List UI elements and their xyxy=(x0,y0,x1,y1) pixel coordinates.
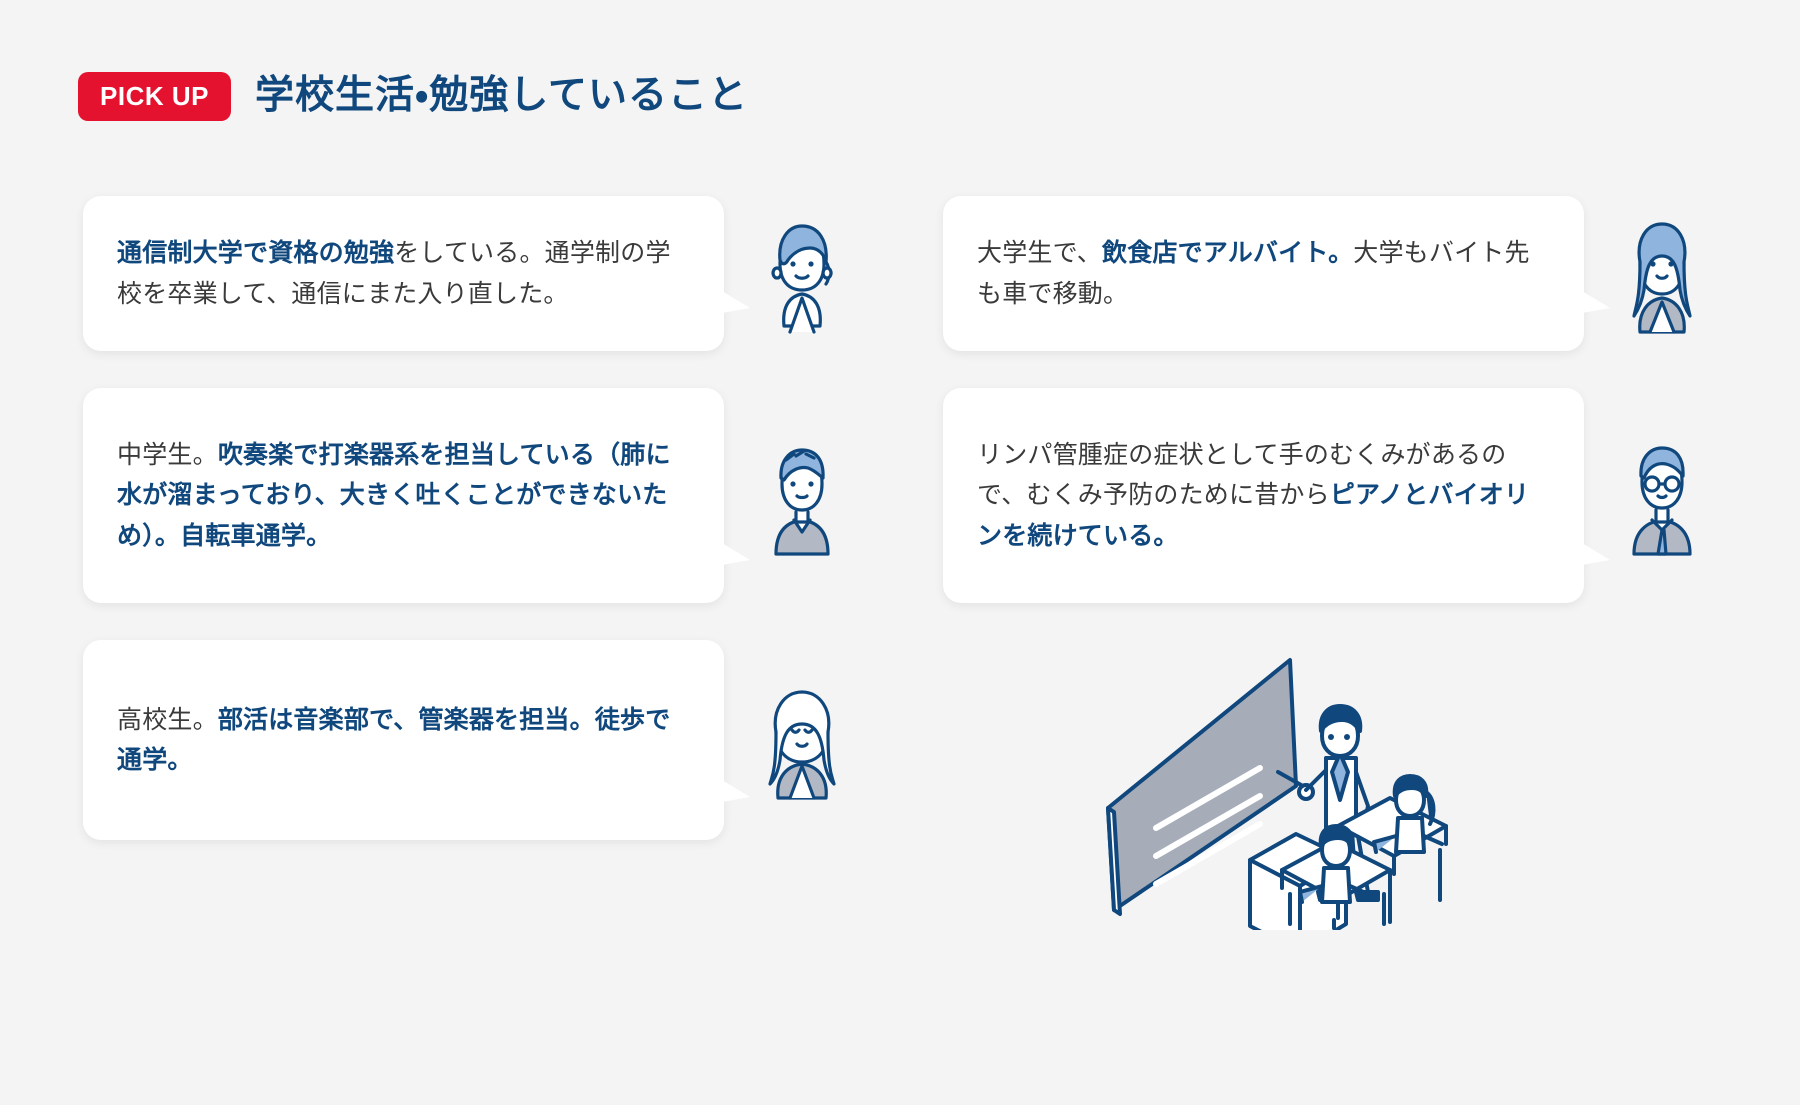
speech-bubble-lymphangioma-piano-violin: リンパ管腫症の症状として手のむくみがあるので、むくみ予防のために昔からピアノとバ… xyxy=(943,388,1584,603)
bubble-text-plain: 高校生。 xyxy=(117,706,218,734)
bubble-text: 中学生。吹奏楽で打楽器系を担当している（肺に水が溜まっており、大きく吐くことがで… xyxy=(117,435,690,557)
avatar-boy-short-hair xyxy=(746,436,858,556)
bubble-text-plain: 大学生で、 xyxy=(977,239,1102,267)
page-title: 学校生活・勉強していること xyxy=(255,75,748,118)
right-column: 大学生で、飲食店でアルバイト。大学もバイト先も車で移動。 リンパ管腫症の症状とし… xyxy=(943,196,1733,640)
bubble-text: 高校生。部活は音楽部で、管楽器を担当。徒歩で通学。 xyxy=(117,700,690,781)
bubble-text: リンパ管腫症の症状として手のむくみがあるので、むくみ予防のために昔からピアノとバ… xyxy=(977,435,1550,557)
bubble-text-emphasis: 飲食店でアルバイト。 xyxy=(1102,239,1353,267)
bubble-text: 通信制大学で資格の勉強をしている。通学制の学校を卒業して、通信にまた入り直した。 xyxy=(117,233,690,314)
bubble-text-emphasis: 通信制大学で資格の勉強 xyxy=(117,239,394,267)
speech-bubble-correspondence-university: 通信制大学で資格の勉強をしている。通学制の学校を卒業して、通信にまた入り直した。 xyxy=(83,196,724,351)
testimonial-row: 中学生。吹奏楽で打楽器系を担当している（肺に水が溜まっており、大きく吐くことがで… xyxy=(83,388,873,603)
testimonial-row: 大学生で、飲食店でアルバイト。大学もバイト先も車で移動。 xyxy=(943,196,1733,351)
page-header: PICK UP 学校生活・勉強していること xyxy=(78,72,748,121)
speech-bubble-high-school-music-club: 高校生。部活は音楽部で、管楽器を担当。徒歩で通学。 xyxy=(83,640,724,840)
pickup-badge: PICK UP xyxy=(78,72,231,121)
avatar-woman-short-hair xyxy=(746,214,858,334)
testimonial-row: 通信制大学で資格の勉強をしている。通学制の学校を卒業して、通信にまた入り直した。 xyxy=(83,196,873,351)
bubble-text: 大学生で、飲食店でアルバイト。大学もバイト先も車で移動。 xyxy=(977,233,1550,314)
avatar-girl-long-hair xyxy=(746,680,858,800)
classroom-teacher-and-students-illustration xyxy=(1100,600,1490,930)
avatar-boy-glasses-tie xyxy=(1606,436,1718,556)
speech-bubble-university-part-time-job: 大学生で、飲食店でアルバイト。大学もバイト先も車で移動。 xyxy=(943,196,1584,351)
bubble-text-plain: 中学生。 xyxy=(117,441,218,469)
speech-bubble-junior-high-brass-band: 中学生。吹奏楽で打楽器系を担当している（肺に水が溜まっており、大きく吐くことがで… xyxy=(83,388,724,603)
testimonial-row: リンパ管腫症の症状として手のむくみがあるので、むくみ予防のために昔からピアノとバ… xyxy=(943,388,1733,603)
avatar-woman-long-hair xyxy=(1606,214,1718,334)
testimonial-row: 高校生。部活は音楽部で、管楽器を担当。徒歩で通学。 xyxy=(83,640,873,840)
left-column: 通信制大学で資格の勉強をしている。通学制の学校を卒業して、通信にまた入り直した。 xyxy=(83,196,873,877)
